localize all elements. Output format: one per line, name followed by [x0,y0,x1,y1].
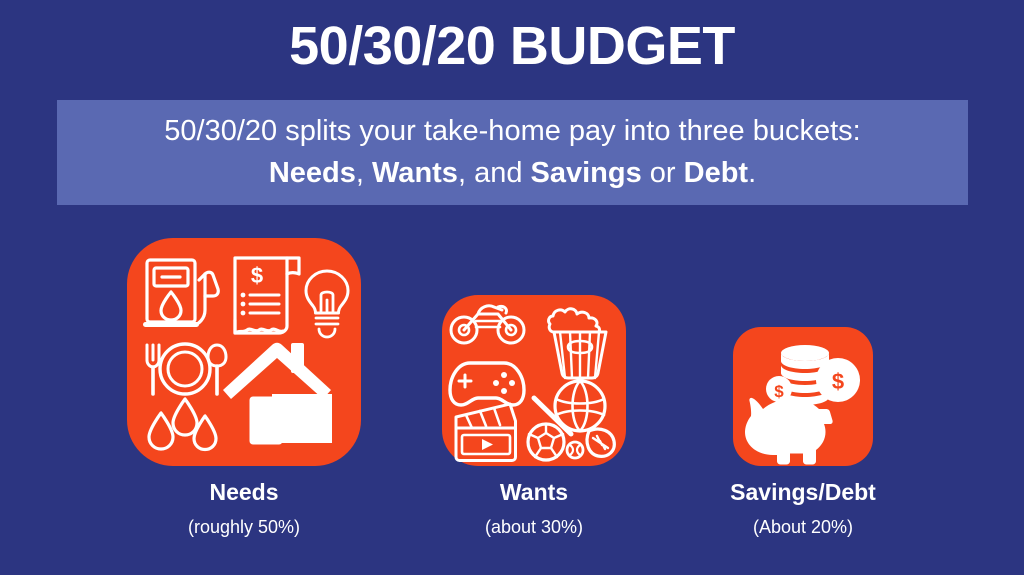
popcorn-icon [549,309,606,378]
banner-bold-savings: Savings [531,157,642,189]
motorcycle-icon [451,306,524,343]
bucket-caption-needs: Needs (roughly 50%) [127,478,361,539]
banner-period: . [748,157,756,189]
banner-sep-1: , [356,157,372,189]
svg-text:$: $ [251,263,263,288]
banner-line-1: 50/30/20 splits your take-home pay into … [164,111,860,152]
movie-clapperboard-icon [456,404,516,461]
bucket-label-wants: Wants [442,478,626,507]
wants-icon-group [442,295,626,466]
infographic-canvas: 50/30/20 BUDGET 50/30/20 splits your tak… [0,0,1024,575]
bucket-caption-wants: Wants (about 30%) [442,478,626,539]
gas-pump-icon [143,260,218,327]
intro-banner: 50/30/20 splits your take-home pay into … [57,100,968,205]
game-controller-icon [450,363,524,405]
banner-sep-3: or [642,157,684,189]
banner-line-2: Needs, Wants, and Savings or Debt. [269,153,756,194]
bucket-label-savings: Savings/Debt [713,478,893,507]
sports-balls-icon [528,381,614,460]
svg-text:$: $ [832,369,844,394]
savings-icon-group: $ $ [733,327,873,466]
lightbulb-icon [306,271,348,337]
banner-bold-needs: Needs [269,157,356,189]
bucket-caption-savings: Savings/Debt (About 20%) [713,478,893,539]
bucket-card-needs[interactable]: $ [127,238,361,466]
bucket-percent-wants: (about 30%) [442,515,626,539]
plate-fork-spoon-icon [147,344,226,394]
banner-bold-debt: Debt [684,157,748,189]
banner-sep-2: , and [458,157,531,189]
bill-receipt-dollar-icon: $ [235,258,299,333]
bucket-card-savings[interactable]: $ $ [733,327,873,466]
water-drops-icon [149,399,216,450]
piggy-bank-icon [745,398,833,465]
svg-text:$: $ [774,382,784,401]
bucket-label-needs: Needs [127,478,361,507]
bucket-percent-needs: (roughly 50%) [127,515,361,539]
house-icon [223,343,332,443]
needs-icon-group: $ [127,238,361,466]
coin-stack-dollar-icon: $ [781,345,860,405]
dollar-coin-icon: $ [766,376,792,402]
bucket-percent-savings: (About 20%) [713,515,893,539]
banner-bold-wants: Wants [372,157,458,189]
page-title: 50/30/20 BUDGET [0,18,1024,75]
bucket-card-wants[interactable] [442,295,626,466]
